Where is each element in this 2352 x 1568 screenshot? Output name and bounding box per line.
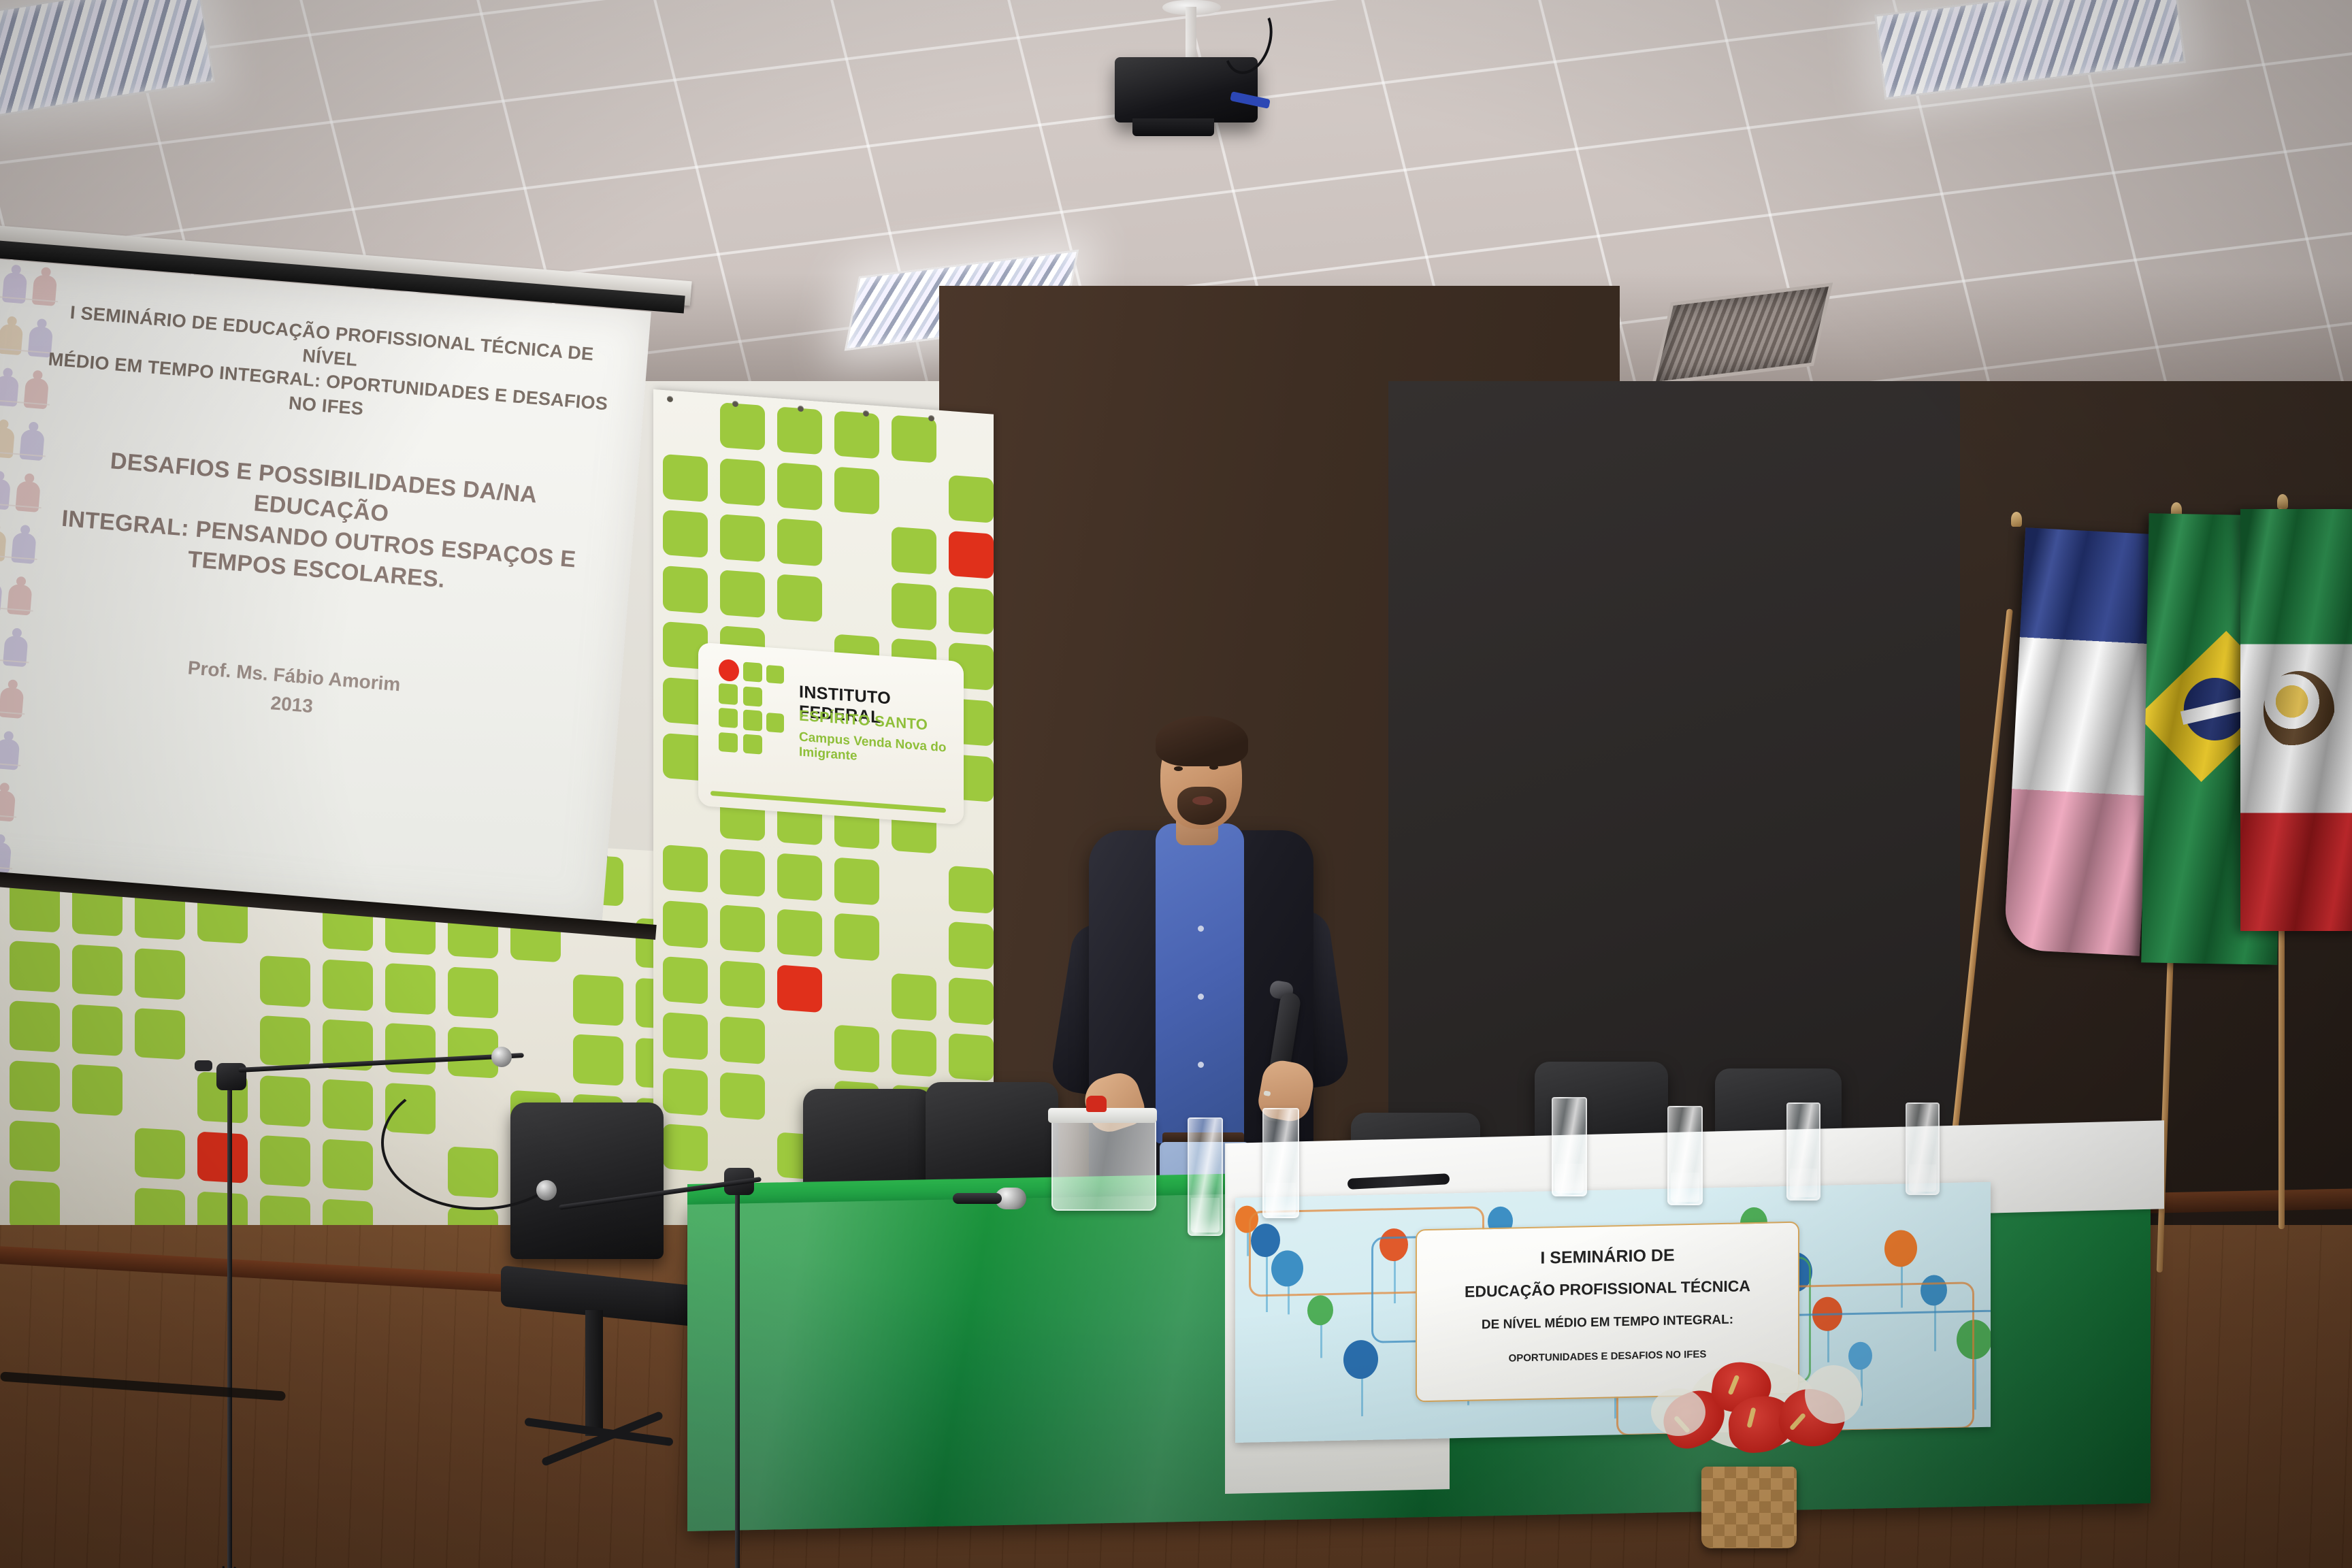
banner-square-green (834, 913, 879, 962)
banner-square-green (573, 1034, 623, 1085)
banner-square-green (10, 941, 60, 992)
banner-square-green (323, 1139, 373, 1190)
wedding-ring (1263, 1090, 1271, 1096)
banner-square-red (949, 531, 994, 579)
banner-square-green (720, 402, 765, 451)
projection-screen-assembly: I SEMINÁRIO DE EDUCAÇÃO PROFISSIONAL TÉC… (0, 225, 674, 932)
banner-square-green (834, 467, 879, 515)
mic-boom-counterweight (195, 1060, 212, 1071)
banner-square-green (260, 955, 310, 1007)
banner-square-green (949, 475, 994, 523)
ifes-logo-square (743, 734, 762, 755)
banner-square-green (663, 956, 708, 1004)
chair-post (585, 1310, 603, 1436)
banner-square-green (720, 960, 765, 1009)
banner-square-green (72, 1064, 122, 1116)
slide-event-title: I SEMINÁRIO DE EDUCAÇÃO PROFISSIONAL TÉC… (44, 299, 615, 441)
shirt-button (1198, 994, 1204, 1000)
banner-square-green (892, 527, 936, 575)
banner-square-green (385, 1023, 436, 1075)
slide-talk-title: DESAFIOS E POSSIBILIDADES DA/NA EDUCAÇÃO… (37, 441, 603, 608)
microphone-head (491, 1047, 512, 1067)
banner-square-red (777, 964, 822, 1013)
banner-square-green (834, 857, 879, 906)
banner-square-green (720, 458, 765, 506)
banner-square-green (720, 1016, 765, 1064)
banner-square-green (777, 406, 822, 455)
banner-square-green (949, 866, 994, 914)
event-table-banner: I SEMINÁRIO DE EDUCAÇÃO PROFISSIONAL TÉC… (1235, 1182, 1991, 1443)
banner-square-green (72, 1004, 122, 1056)
banner-square-green (949, 921, 994, 970)
drinking-glass[interactable] (1667, 1106, 1703, 1205)
woven-basket-vase (1701, 1467, 1797, 1548)
ifes-logo-square (719, 732, 738, 753)
banner-square-green (260, 1135, 310, 1187)
banner-square-green (260, 1015, 310, 1067)
drinking-glass[interactable] (1552, 1097, 1587, 1196)
banner-square-green (573, 974, 623, 1026)
banner-icon-bubble (1343, 1340, 1378, 1379)
slide-author-block: Prof. Ms. Fábio Amorim 2013 (46, 642, 539, 738)
speaker-beard (1177, 787, 1226, 825)
banner-grommet (732, 401, 738, 408)
ifes-logo-square (766, 713, 784, 733)
ifes-logo-square (743, 662, 762, 683)
ifes-logo-square (743, 687, 762, 707)
event-banner-line3: DE NÍVEL MÉDIO EM TEMPO INTEGRAL: (1417, 1311, 1798, 1335)
flag-pole-tip (2277, 494, 2288, 509)
banner-square-green (892, 583, 936, 631)
banner-square-green (135, 948, 185, 1000)
banner-icon-bubble (1307, 1295, 1333, 1326)
flag-fold-shading (2004, 527, 2161, 956)
banner-square-green (720, 904, 765, 953)
drinking-glass[interactable] (1262, 1108, 1299, 1218)
drinking-glass[interactable] (1188, 1117, 1223, 1236)
table-mic-body (953, 1193, 1002, 1204)
table-microphone[interactable] (953, 1188, 1028, 1211)
speaker-mouth (1192, 796, 1213, 805)
banner-icon-stem (1320, 1321, 1322, 1358)
babys-breath (1805, 1365, 1862, 1424)
photo-scene: INSTITUTO FEDERAL ESPÍRITO SANTO Campus … (0, 0, 2352, 1568)
banner-square-green (777, 518, 822, 566)
speaker-hair (1156, 716, 1248, 766)
ifes-logo-square (743, 710, 762, 732)
ifes-logo-line3: Campus Venda Nova do Imigrante (799, 730, 964, 772)
ice-bucket[interactable] (1051, 1116, 1156, 1211)
mic-stand-pole (227, 1075, 232, 1568)
flag-espirito-santo (2004, 527, 2161, 956)
projector-mount-pole (1186, 7, 1196, 60)
banner-square-green (892, 973, 936, 1022)
banner-square-green (949, 1033, 994, 1081)
banner-square-green (777, 574, 822, 622)
banner-square-green (10, 1000, 60, 1052)
ice-bucket-knob (1086, 1096, 1107, 1112)
drinking-glass[interactable] (1906, 1102, 1940, 1195)
banner-square-green (135, 1008, 185, 1060)
banner-square-green (777, 853, 822, 901)
banner-square-red (197, 1131, 248, 1183)
shirt-button (1198, 1062, 1204, 1068)
banner-grommet (928, 415, 934, 422)
ifes-logo-red-dot (719, 659, 739, 682)
banner-square-green (720, 514, 765, 562)
banner-square-green (385, 963, 436, 1015)
banner-square-green (777, 909, 822, 957)
banner-square-green (10, 1060, 60, 1112)
banner-square-green (10, 1120, 60, 1172)
flag-fold-shading (2240, 509, 2352, 931)
banner-square-green (135, 1128, 185, 1179)
banner-icon-bubble (1884, 1230, 1917, 1267)
banner-square-green (892, 1029, 936, 1077)
microphone-head (536, 1180, 557, 1200)
banner-square-green (834, 411, 879, 459)
speaker-shirt (1156, 823, 1244, 1143)
banner-square-green (720, 849, 765, 897)
banner-square-green (323, 1079, 373, 1130)
banner-square-green (720, 1072, 765, 1120)
banner-square-green (448, 1026, 498, 1078)
banner-square-green (663, 1012, 708, 1060)
banner-square-green (72, 945, 122, 996)
banner-square-green (834, 1025, 879, 1073)
banner-square-green (720, 570, 765, 618)
event-banner-line2: EDUCAÇÃO PROFISSIONAL TÉCNICA (1417, 1276, 1798, 1303)
banner-square-green (777, 462, 822, 510)
banner-square-green (323, 959, 373, 1011)
banner-icon-stem (1361, 1375, 1363, 1416)
banner-square-green (949, 977, 994, 1026)
ifes-logo-square (766, 665, 784, 684)
ifes-logo-square (719, 708, 738, 728)
flag-venda-nova-do-imigrante (2240, 509, 2352, 931)
banner-grommet (798, 406, 804, 412)
speaker-eye (1174, 766, 1183, 771)
ifes-logo-plate: INSTITUTO FEDERAL ESPÍRITO SANTO Campus … (698, 642, 964, 826)
banner-square-green (448, 966, 498, 1018)
mic-stand-pole (735, 1179, 740, 1568)
banner-square-green (949, 587, 994, 635)
event-banner-line1: I SEMINÁRIO DE (1417, 1243, 1798, 1271)
banner-square-green (260, 1075, 310, 1127)
banner-grommet (863, 410, 869, 417)
banner-square-green (892, 415, 936, 463)
shirt-button (1198, 926, 1204, 932)
babys-breath (1651, 1388, 1705, 1436)
flag-pole-tip (2011, 512, 2022, 527)
drinking-glass[interactable] (1786, 1102, 1820, 1200)
ifes-logo-square (719, 683, 738, 705)
projection-screen: I SEMINÁRIO DE EDUCAÇÃO PROFISSIONAL TÉC… (0, 257, 651, 926)
